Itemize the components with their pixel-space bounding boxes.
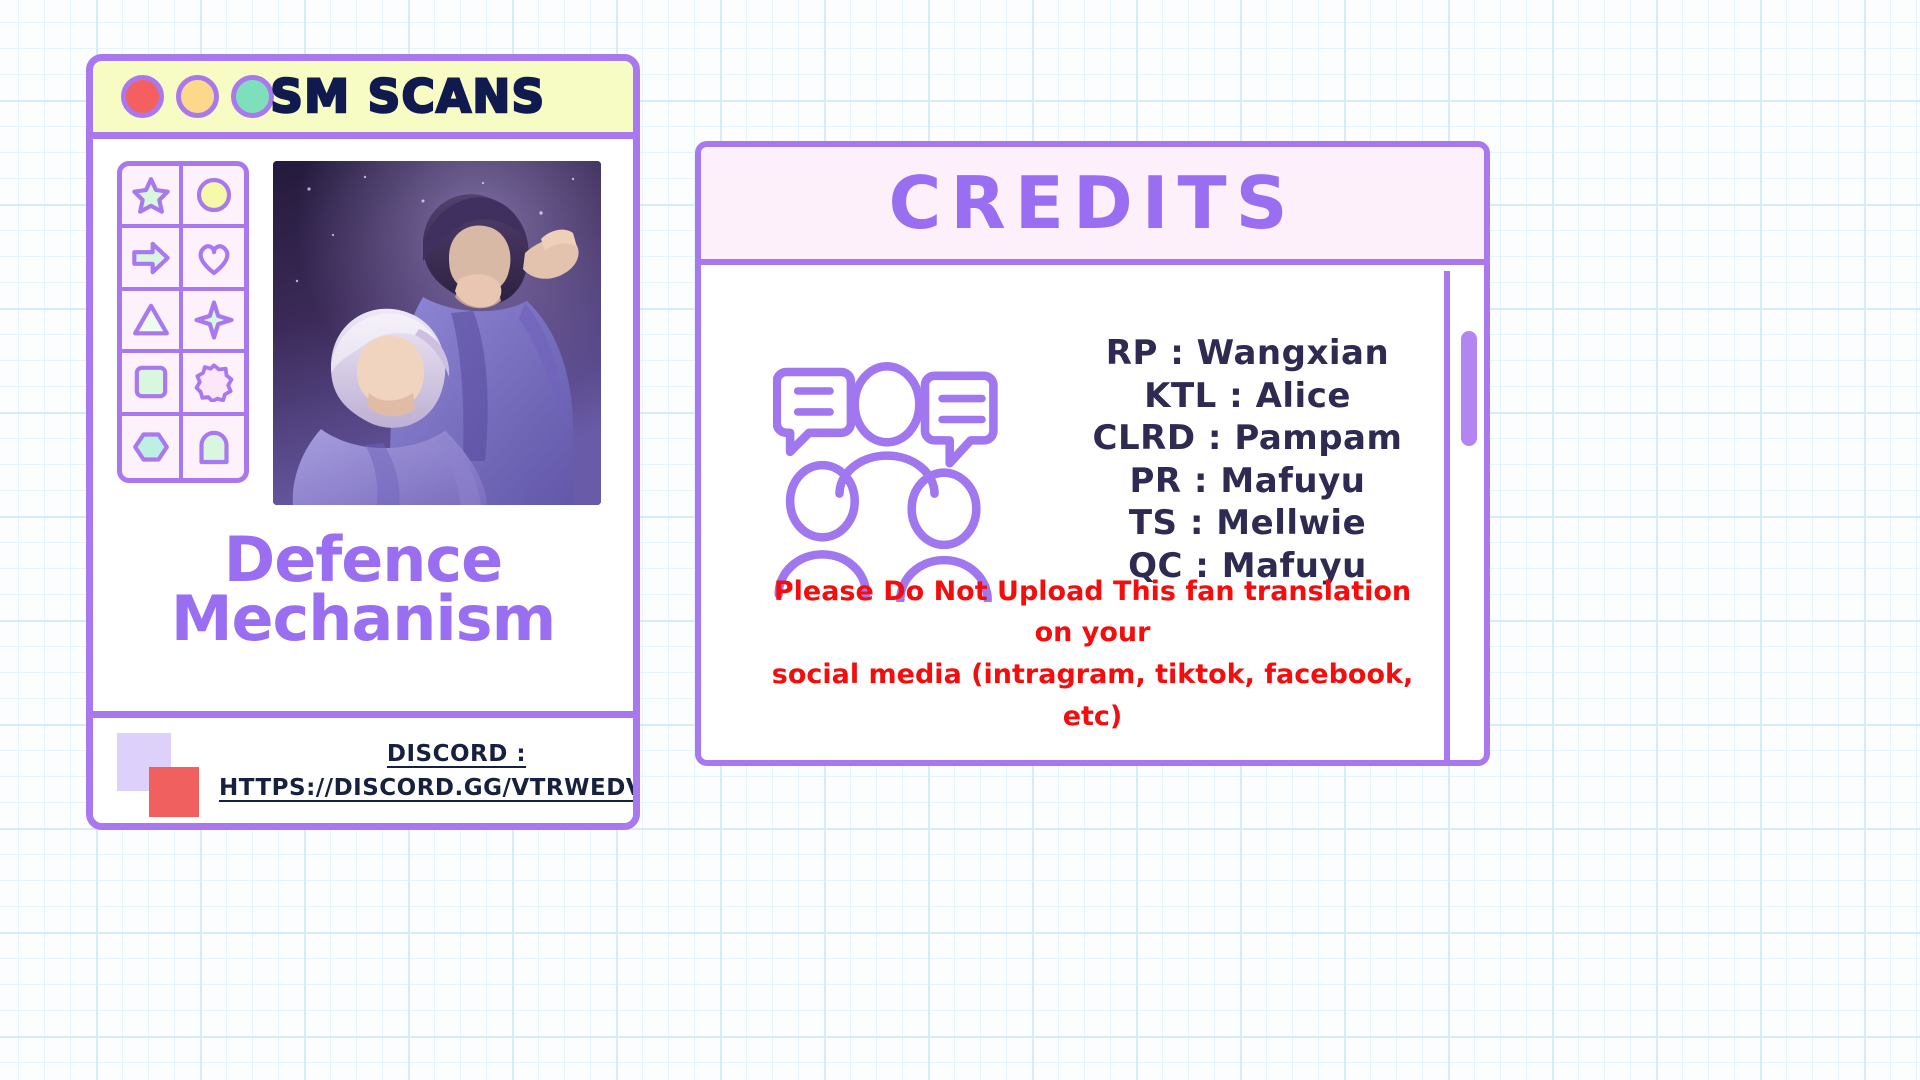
credits-title: CREDITS	[889, 161, 1297, 245]
arch-icon	[194, 427, 234, 467]
grid-cell-flower[interactable]	[183, 353, 244, 415]
square-icon	[131, 362, 171, 402]
grid-cell-circle[interactable]	[183, 166, 244, 228]
credit-entry-clrd: CLRD : Pampam	[1045, 417, 1450, 460]
icon-grid	[117, 161, 249, 483]
series-info-window: SM SCANS	[86, 54, 640, 830]
discord-label: DISCORD :	[219, 741, 640, 767]
upload-warning: Please Do Not Upload This fan translatio…	[757, 571, 1428, 738]
decorative-squares	[109, 721, 219, 821]
discord-block: DISCORD : HTTPS://DISCORD.GG/VTRWEDV2FY	[219, 741, 640, 801]
card-footer: DISCORD : HTTPS://DISCORD.GG/VTRWEDV2FY	[93, 711, 633, 823]
heart-icon	[194, 238, 234, 278]
circle-icon	[194, 175, 234, 215]
window-titlebar: SM SCANS	[93, 61, 633, 139]
credits-body: RP : Wangxian KTL : Alice CLRD : Pampam …	[701, 265, 1484, 760]
star-icon	[131, 175, 171, 215]
grid-cell-sparkle[interactable]	[183, 291, 244, 353]
grid-cell-arrow[interactable]	[122, 228, 183, 290]
credits-header: CREDITS	[701, 147, 1484, 265]
credit-entry-ts: TS : Mellwie	[1045, 502, 1450, 545]
credit-entry-ktl: KTL : Alice	[1045, 375, 1450, 418]
upper-row	[117, 161, 609, 505]
coral-square-icon	[149, 767, 199, 817]
grid-cell-heart[interactable]	[183, 228, 244, 290]
window-body: Defence Mechanism	[93, 139, 633, 759]
triangle-icon	[131, 300, 171, 340]
flower-icon	[194, 362, 234, 402]
hexagon-icon	[131, 427, 171, 467]
scrollbar-track[interactable]	[1444, 271, 1478, 766]
page-title: Defence Mechanism	[117, 531, 609, 649]
grid-cell-arch[interactable]	[183, 416, 244, 478]
series-cover-art	[273, 161, 601, 505]
warning-line-1: Please Do Not Upload This fan translatio…	[774, 576, 1411, 649]
grid-cell-triangle[interactable]	[122, 291, 183, 353]
series-title-line2: Mechanism	[117, 590, 609, 649]
credits-window: CREDITS	[695, 141, 1490, 766]
credit-entry-rp: RP : Wangxian	[1045, 332, 1450, 375]
grid-cell-star[interactable]	[122, 166, 183, 228]
scrollbar-thumb[interactable]	[1461, 331, 1477, 446]
discord-link[interactable]: HTTPS://DISCORD.GG/VTRWEDV2FY	[219, 775, 640, 801]
brand-title: SM SCANS	[93, 70, 633, 123]
warning-line-2: social media (intragram, tiktok, faceboo…	[772, 659, 1413, 732]
arrow-right-icon	[131, 238, 171, 278]
credit-entry-pr: PR : Mafuyu	[1045, 460, 1450, 503]
grid-cell-square[interactable]	[122, 353, 183, 415]
sparkle-icon	[194, 300, 234, 340]
grid-cell-hexagon[interactable]	[122, 416, 183, 478]
